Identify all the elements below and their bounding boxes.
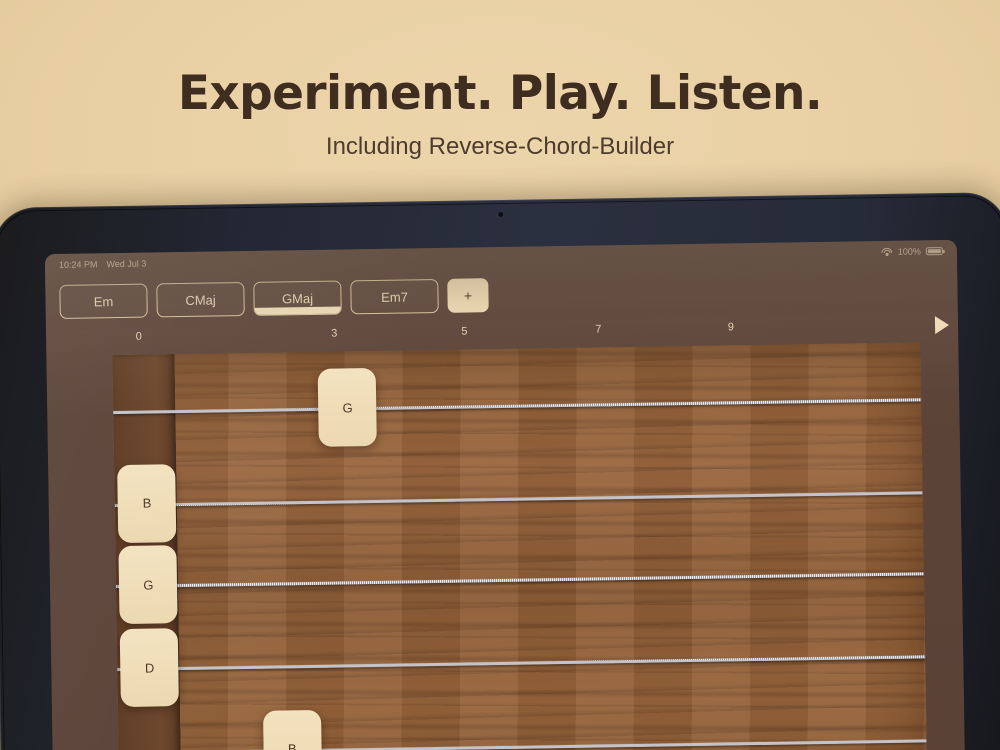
note-marker-label: B — [143, 496, 152, 511]
note-marker-g[interactable]: G — [318, 368, 377, 447]
note-marker-label: G — [342, 400, 352, 415]
wifi-icon — [882, 248, 893, 256]
tablet-device: 10:24 PM Wed Jul 3 100% EmCMajGMajEm7+ 0… — [0, 192, 1000, 750]
tablet-screen: 10:24 PM Wed Jul 3 100% EmCMajGMajEm7+ 0… — [45, 240, 966, 750]
add-chord-button[interactable]: + — [447, 278, 489, 313]
fret-number-0: 0 — [136, 331, 142, 343]
fretboard-area: 03579 GBGDB — [46, 314, 965, 750]
fret-number-7: 7 — [595, 323, 601, 335]
chord-tab-em7[interactable]: Em7 — [350, 279, 439, 314]
status-bar-right: 100% — [882, 246, 943, 257]
note-marker-b[interactable]: B — [117, 464, 176, 543]
status-bar-left: 10:24 PM Wed Jul 3 — [59, 259, 147, 270]
note-marker-label: B — [288, 742, 297, 750]
status-time: 10:24 PM — [59, 259, 98, 270]
status-date: Wed Jul 3 — [106, 259, 146, 270]
string-4 — [117, 656, 925, 672]
play-triangle-icon[interactable] — [935, 316, 949, 334]
chord-tab-label: Em7 — [381, 289, 408, 304]
fret-number-9: 9 — [728, 321, 734, 333]
chord-tab-cmaj[interactable]: CMaj — [156, 282, 245, 317]
chord-tab-label: CMaj — [185, 292, 216, 307]
chord-tab-em[interactable]: Em — [59, 284, 148, 319]
front-camera-icon — [498, 212, 503, 217]
note-marker-label: D — [145, 660, 155, 675]
note-marker-g[interactable]: G — [119, 545, 178, 624]
note-marker-b[interactable]: B — [263, 710, 322, 750]
guitar-fretboard[interactable]: GBGDB — [112, 342, 927, 750]
string-5 — [119, 739, 927, 750]
page-title: Experiment. Play. Listen. — [0, 66, 1000, 121]
note-marker-d[interactable]: D — [120, 629, 179, 708]
battery-icon — [926, 247, 943, 256]
fret-number-5: 5 — [461, 326, 467, 338]
chord-tab-label: + — [464, 287, 472, 303]
marketing-header: Experiment. Play. Listen. Including Reve… — [0, 0, 1000, 161]
page-subtitle: Including Reverse-Chord-Builder — [0, 133, 1000, 161]
string-2 — [115, 491, 923, 507]
chord-tab-gmaj[interactable]: GMaj — [253, 281, 342, 316]
note-marker-label: G — [143, 577, 153, 592]
chord-tab-label: Em — [94, 294, 114, 309]
fret-number-3: 3 — [331, 328, 337, 340]
string-1 — [113, 399, 921, 415]
string-3 — [116, 572, 924, 588]
battery-percent-label: 100% — [898, 246, 921, 256]
chord-tab-label: GMaj — [282, 290, 313, 305]
